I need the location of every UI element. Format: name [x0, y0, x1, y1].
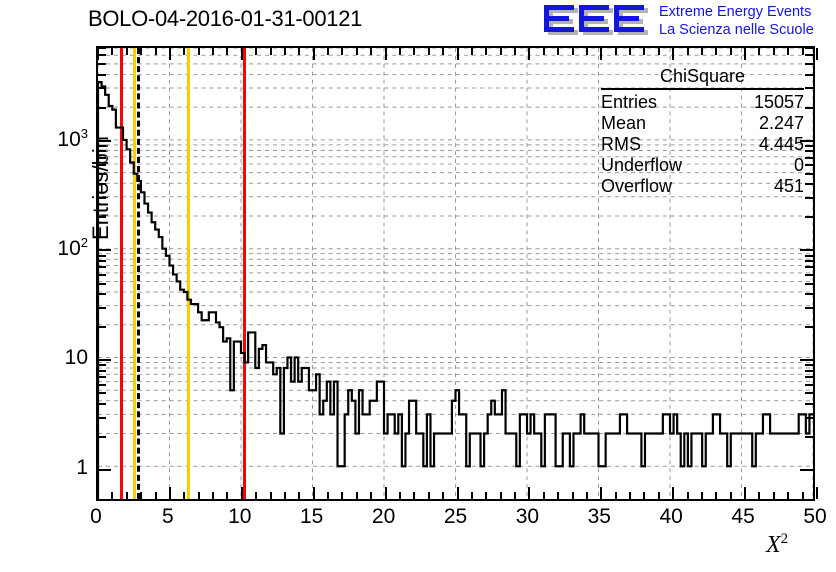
stats-row-value: 15057 — [754, 92, 804, 113]
y-tick-label: 103 — [0, 126, 88, 152]
stats-row-value: 2.247 — [759, 113, 804, 134]
stats-row-value: 451 — [774, 176, 804, 197]
page-title: BOLO-04-2016-01-31-00121 — [88, 6, 508, 32]
stats-box-rows: Entries15057Mean2.247RMS4.445Underflow0O… — [597, 92, 808, 197]
eee-logo-text: Extreme Energy Events La Scienza nelle S… — [659, 3, 836, 39]
stats-row: RMS4.445 — [597, 134, 808, 155]
stats-row-key: RMS — [601, 134, 641, 155]
x-tick — [816, 487, 818, 499]
x-tick-label: 25 — [444, 505, 467, 529]
stats-row-value: 0 — [794, 155, 804, 176]
x-tick-label: 0 — [90, 505, 102, 529]
y-tick-label: 102 — [0, 235, 88, 261]
x-tick-label: 35 — [588, 505, 611, 529]
stats-box: ChiSquare Entries15057Mean2.247RMS4.445U… — [597, 66, 808, 197]
y-tick-label: 10 — [0, 346, 88, 370]
stats-row: Overflow451 — [597, 176, 808, 197]
x-axis-title-exponent: 2 — [781, 531, 789, 547]
stats-row: Mean2.247 — [597, 113, 808, 134]
y-tick-label: 1 — [0, 456, 88, 480]
eee-logo: Extreme Energy Events La Scienza nelle S… — [541, 2, 833, 44]
x-tick-label: 15 — [300, 505, 323, 529]
x-axis-title-text: X — [766, 532, 781, 558]
x-tick-label: 5 — [162, 505, 174, 529]
stats-box-title: ChiSquare — [597, 66, 808, 88]
x-tick-label: 45 — [731, 505, 754, 529]
stats-row-key: Overflow — [601, 176, 672, 197]
stats-row-key: Underflow — [601, 155, 682, 176]
x-tick-label: 50 — [803, 505, 826, 529]
stats-row-key: Mean — [601, 113, 646, 134]
stats-row-value: 4.445 — [759, 134, 804, 155]
stats-row: Entries15057 — [597, 92, 808, 113]
root-canvas: BOLO-04-2016-01-31-00121 — [0, 0, 836, 572]
eee-logo-mark — [541, 4, 653, 40]
eee-tagline-2: La Scienza nelle Scuole — [659, 21, 836, 39]
stats-row-key: Entries — [601, 92, 657, 113]
x-tick-label: 20 — [372, 505, 395, 529]
x-tick-label: 30 — [516, 505, 539, 529]
x-tick-label: 40 — [660, 505, 683, 529]
x-tick — [816, 48, 818, 60]
x-axis-title: X2 — [766, 531, 788, 559]
stats-box-divider — [601, 88, 804, 90]
x-tick-label: 10 — [228, 505, 251, 529]
eee-tagline-1: Extreme Energy Events — [659, 3, 836, 21]
stats-row: Underflow0 — [597, 155, 808, 176]
